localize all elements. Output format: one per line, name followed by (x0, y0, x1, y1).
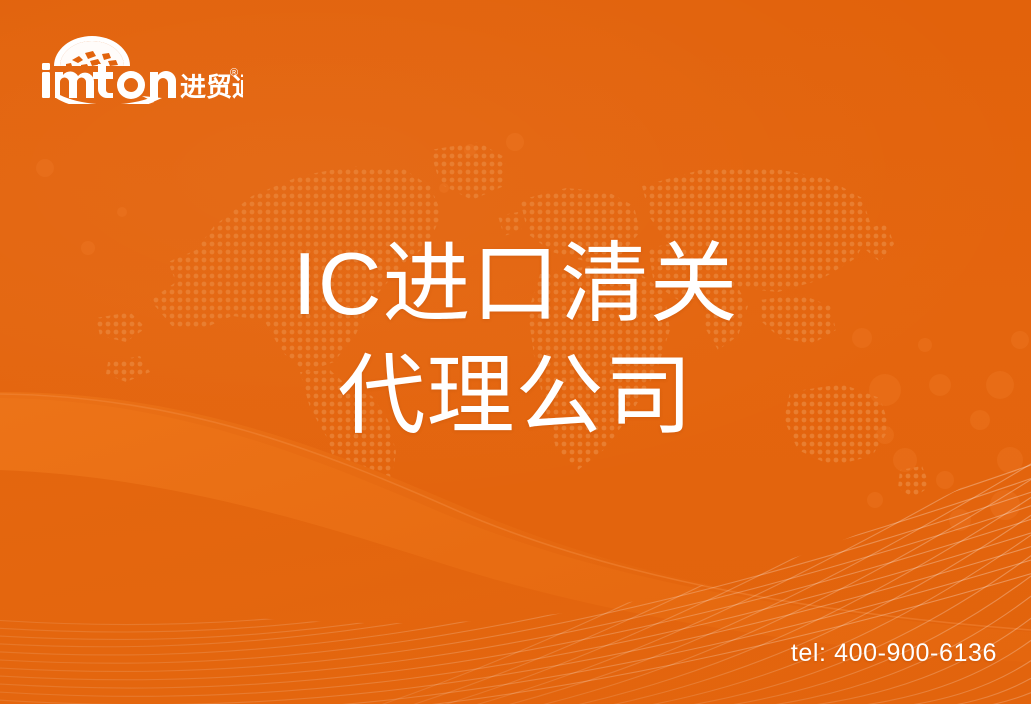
headline-line-1: IC进口清关 (0, 228, 1031, 340)
brand-logo-svg: 进贸通 ® (38, 26, 243, 104)
headline-line-2: 代理公司 (0, 340, 1031, 452)
globe-dome-icon (54, 36, 130, 66)
headline: IC进口清关 代理公司 (0, 228, 1031, 452)
contact-phone[interactable]: tel: 400-900-6136 (791, 639, 997, 668)
promo-banner: 进贸通 ® IC进口清关 代理公司 tel: 400-900-6136 (0, 0, 1031, 704)
brand-logo[interactable]: 进贸通 ® (38, 26, 243, 104)
registered-mark-icon: ® (230, 67, 238, 79)
logo-wordmark (42, 63, 176, 99)
